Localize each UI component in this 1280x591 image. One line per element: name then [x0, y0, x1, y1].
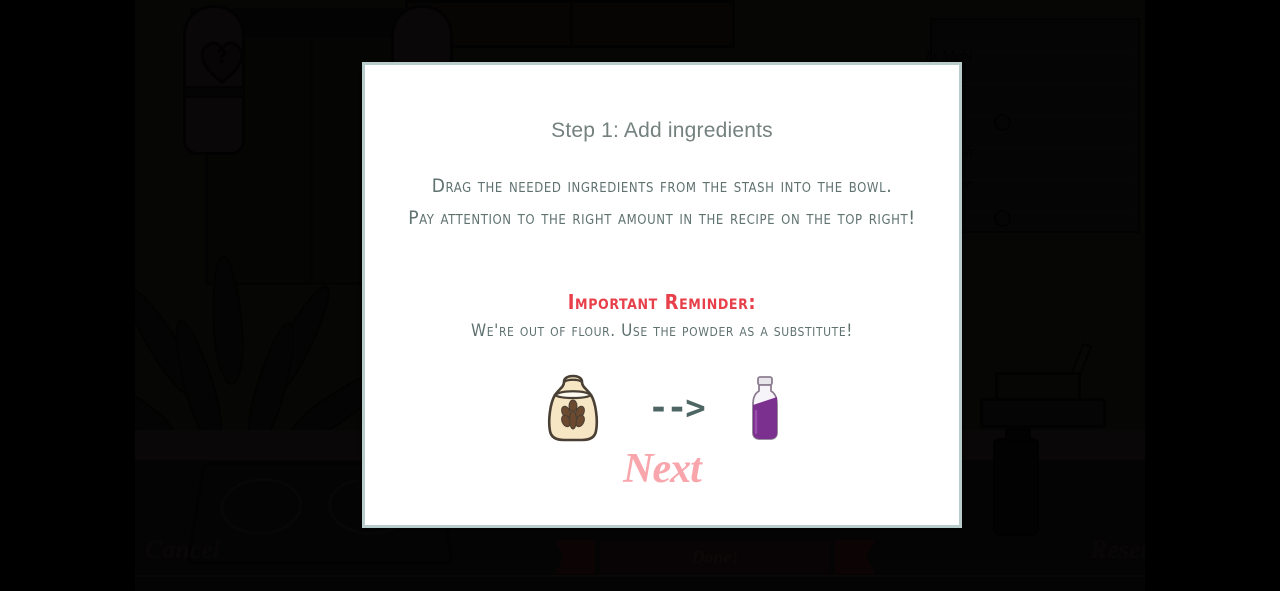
floor-line: [135, 575, 1145, 577]
arrow-right-icon: -->: [648, 391, 703, 425]
modal-instructions: Drag the needed ingredients from the sta…: [365, 170, 959, 234]
recipe-checkbox[interactable]: [994, 114, 1011, 131]
purple-potion-bottle-icon: [748, 375, 782, 446]
help-question-mark: ?: [195, 46, 249, 68]
modal-title: Step 1: Add ingredients: [365, 119, 959, 143]
substitution-row: -->: [365, 370, 959, 450]
instruction-line-1: Drag the needed ingredients from the sta…: [365, 170, 959, 202]
scene-bottle[interactable]: [993, 438, 1039, 536]
reset-button[interactable]: Reset: [1090, 535, 1145, 565]
next-button[interactable]: Next: [365, 445, 959, 493]
reminder-heading: Important Reminder:: [365, 290, 959, 314]
cancel-button[interactable]: Cancel: [145, 535, 220, 565]
done-button-label: Done!: [600, 540, 830, 574]
butter-dish: [980, 398, 1106, 428]
recipe-checkbox[interactable]: [994, 210, 1011, 227]
tutorial-modal: Step 1: Add ingredients Drag the needed …: [362, 62, 962, 528]
wall-cupboard: [405, 0, 735, 48]
done-button[interactable]: Done!: [600, 540, 830, 574]
reminder-body: We're out of flour. Use the powder as a …: [365, 321, 959, 341]
heart-help-icon[interactable]: ?: [195, 38, 249, 86]
game-screen: ?: [0, 0, 1280, 591]
instruction-line-2: Pay attention to the right amount in the…: [365, 202, 959, 234]
flour-sack-icon: [542, 373, 604, 448]
